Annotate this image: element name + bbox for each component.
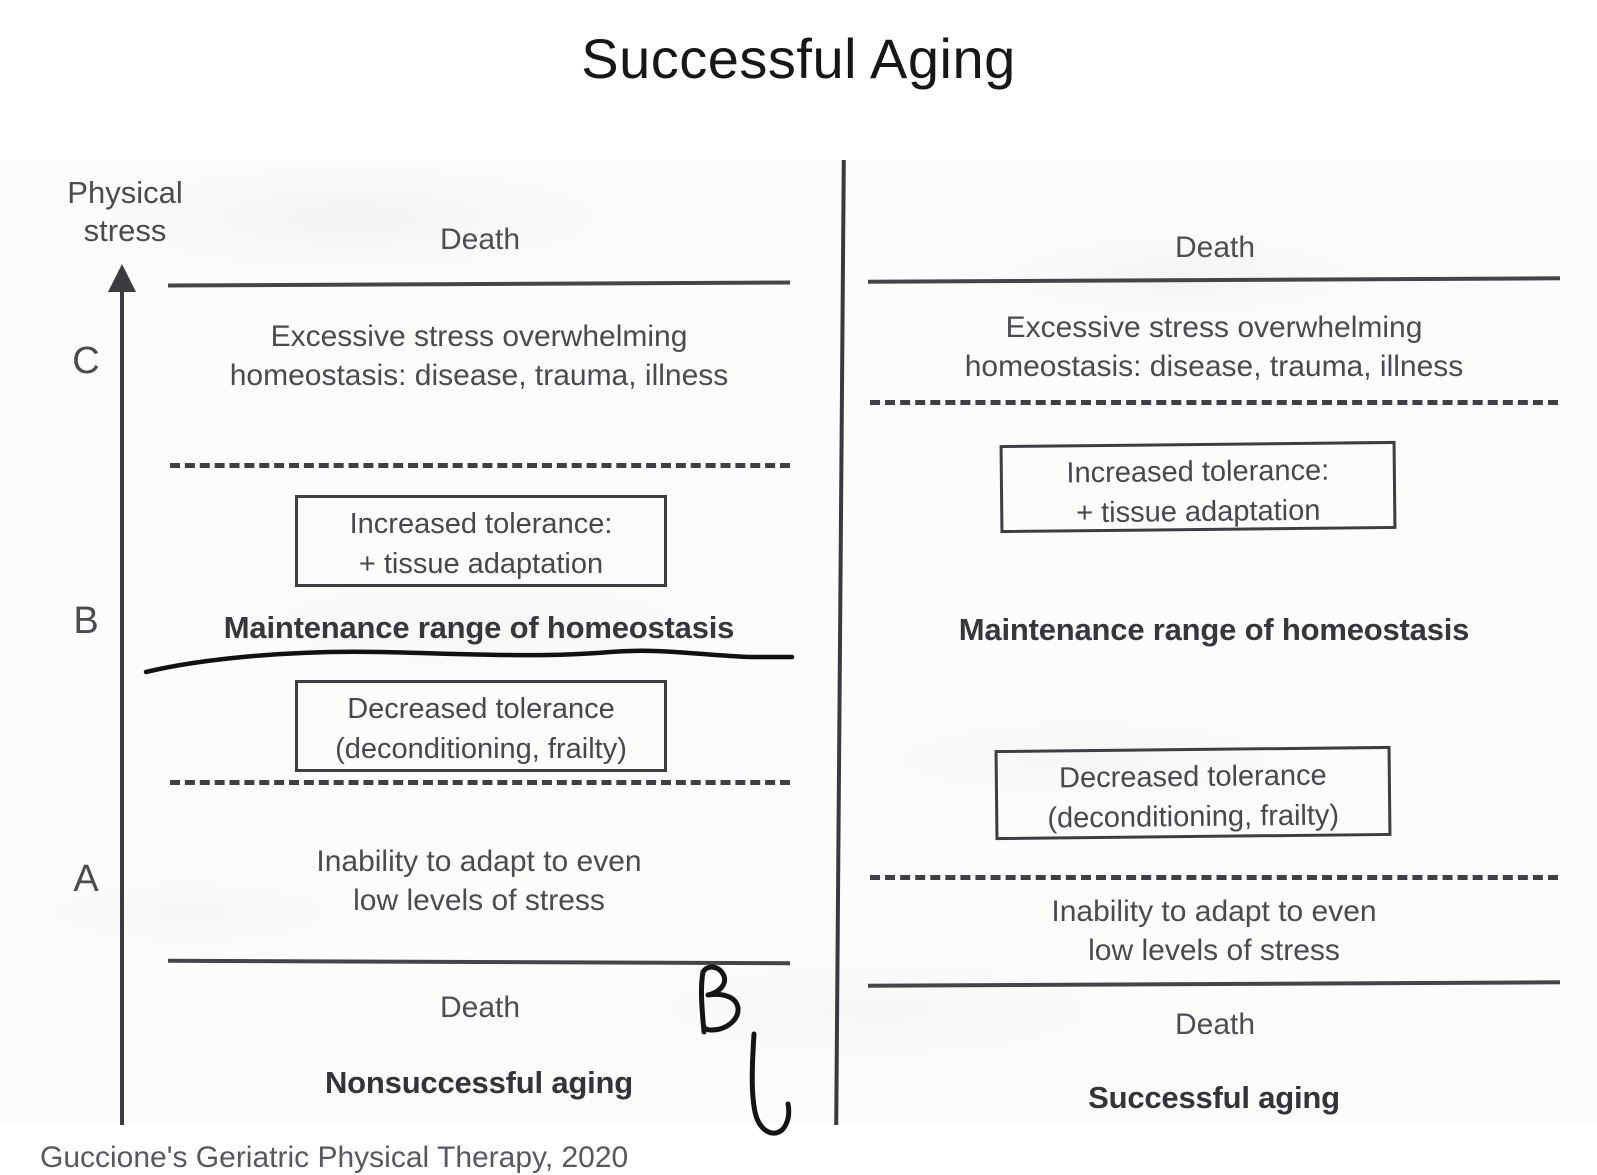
band-maintenance-range-right: Maintenance range of homeostasis	[868, 610, 1560, 649]
box-increased-tolerance-right-line1: Increased tolerance:	[1003, 450, 1393, 494]
page-title: Successful Aging	[0, 26, 1597, 91]
panel-caption-successful: Successful aging	[868, 1080, 1560, 1116]
death-boundary-top-right	[868, 276, 1560, 283]
band-excessive-stress-left: Excessive stress overwhelming homeostasi…	[168, 317, 790, 395]
band-maintenance-range-left: Maintenance range of homeostasis	[168, 608, 790, 647]
box-decreased-tolerance-right-line2: (deconditioning, frailty)	[998, 795, 1388, 839]
box-increased-tolerance-left-line2: + tissue adaptation	[298, 544, 664, 584]
box-increased-tolerance-left: Increased tolerance: + tissue adaptation	[295, 495, 667, 587]
figure-scanned-diagram: Physical stress C B A Death Excessive st…	[0, 160, 1597, 1125]
box-decreased-tolerance-left-line2: (deconditioning, frailty)	[298, 729, 664, 769]
box-increased-tolerance-left-line1: Increased tolerance:	[298, 504, 664, 544]
band-excessive-stress-left-line2: homeostasis: disease, trauma, illness	[168, 356, 790, 395]
band-excessive-stress-right-line1: Excessive stress overwhelming	[868, 308, 1560, 347]
band-inability-adapt-left-line2: low levels of stress	[168, 881, 790, 920]
box-decreased-tolerance-right-line1: Decreased tolerance	[998, 755, 1388, 799]
band-inability-adapt-right: Inability to adapt to even low levels of…	[868, 892, 1560, 970]
death-boundary-bottom-left	[168, 959, 790, 965]
death-boundary-bottom-right	[868, 980, 1560, 987]
box-increased-tolerance-right-line2: + tissue adaptation	[1003, 490, 1393, 534]
band-excessive-stress-right-line2: homeostasis: disease, trauma, illness	[868, 347, 1560, 386]
upper-dashed-boundary-right	[870, 400, 1558, 405]
lower-dashed-boundary-left	[170, 780, 790, 785]
band-inability-adapt-right-line2: low levels of stress	[868, 931, 1560, 970]
box-increased-tolerance-right: Increased tolerance: + tissue adaptation	[1000, 441, 1397, 533]
panel-successful-aging: Death Excessive stress overwhelming home…	[850, 160, 1597, 1125]
band-inability-adapt-left: Inability to adapt to even low levels of…	[168, 842, 790, 920]
band-inability-adapt-left-line1: Inability to adapt to even	[168, 842, 790, 881]
band-excessive-stress-left-line1: Excessive stress overwhelming	[168, 317, 790, 356]
band-inability-adapt-right-line1: Inability to adapt to even	[868, 892, 1560, 931]
death-label-top-right: Death	[870, 228, 1560, 267]
box-decreased-tolerance-left-line1: Decreased tolerance	[298, 689, 664, 729]
upper-dashed-boundary-left	[170, 463, 790, 468]
panel-caption-nonsuccessful: Nonsuccessful aging	[168, 1065, 790, 1101]
death-label-bottom-left: Death	[170, 988, 790, 1027]
death-label-bottom-right: Death	[870, 1005, 1560, 1044]
panel-nonsuccessful-aging: Death Excessive stress overwhelming home…	[0, 160, 835, 1125]
box-decreased-tolerance-right: Decreased tolerance (deconditioning, fra…	[995, 746, 1392, 840]
panel-divider	[834, 160, 846, 1125]
box-decreased-tolerance-left: Decreased tolerance (deconditioning, fra…	[295, 680, 667, 772]
death-label-top-left: Death	[170, 220, 790, 259]
band-excessive-stress-right: Excessive stress overwhelming homeostasi…	[868, 308, 1560, 386]
lower-dashed-boundary-right	[870, 875, 1558, 880]
footer-citation: Guccione's Geriatric Physical Therapy, 2…	[40, 1141, 628, 1175]
death-boundary-top-left	[168, 280, 790, 287]
